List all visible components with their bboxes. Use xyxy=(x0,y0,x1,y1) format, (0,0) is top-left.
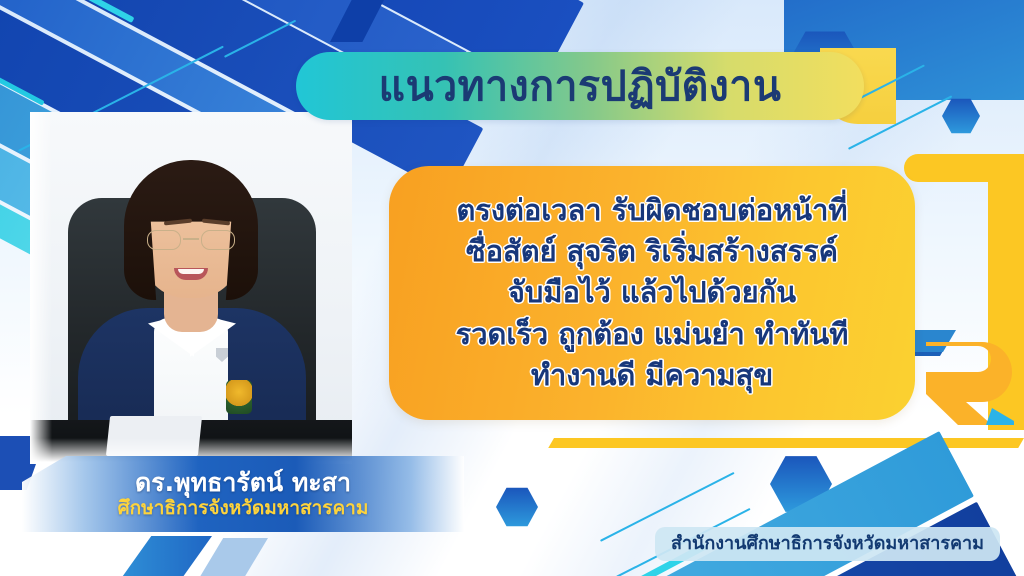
portrait-fade-left xyxy=(30,112,52,464)
portrait-insignia-badge xyxy=(226,380,252,414)
organization-name: สำนักงานศึกษาธิการจังหวัดมหาสารคาม xyxy=(671,535,984,553)
decor-yellow-bar-top xyxy=(904,154,1024,182)
page-title: แนวทางการปฏิบัติงาน xyxy=(379,66,782,107)
portrait-glasses-icon xyxy=(145,230,237,250)
person-name: ดร.พุทธารัตน์ ทะสา xyxy=(135,469,351,497)
poster-canvas: แนวทางการปฏิบัติงาน ตรงต่อเวลา รับผิดชอบ… xyxy=(0,0,1024,576)
guideline-line: ซื่อสัตย์ สุจริต ริเริ่มสร้างสรรค์ xyxy=(466,231,838,272)
guidelines-card: ตรงต่อเวลา รับผิดชอบต่อหน้าที่ ซื่อสัตย์… xyxy=(389,166,915,420)
person-name-banner: ดร.พุทธารัตน์ ทะสา ศึกษาธิการจังหวัดมหาส… xyxy=(22,456,464,532)
portrait-photo xyxy=(30,112,352,464)
page-title-banner: แนวทางการปฏิบัติงาน xyxy=(296,52,864,120)
portrait-teeth xyxy=(178,269,204,274)
guideline-line: รวดเร็ว ถูกต้อง แม่นยำ ทำทันที xyxy=(456,314,849,355)
guideline-line: จับมือไว้ แล้วไปด้วยกัน xyxy=(508,272,796,313)
person-role: ศึกษาธิการจังหวัดมหาสารคาม xyxy=(118,497,369,520)
guideline-line: ตรงต่อเวลา รับผิดชอบต่อหน้าที่ xyxy=(456,190,847,231)
guideline-line: ทำงานดี มีความสุข xyxy=(531,355,773,396)
organization-footer: สำนักงานศึกษาธิการจังหวัดมหาสารคาม xyxy=(655,527,1000,561)
decor-yellow-bar-bottom xyxy=(548,438,1024,448)
